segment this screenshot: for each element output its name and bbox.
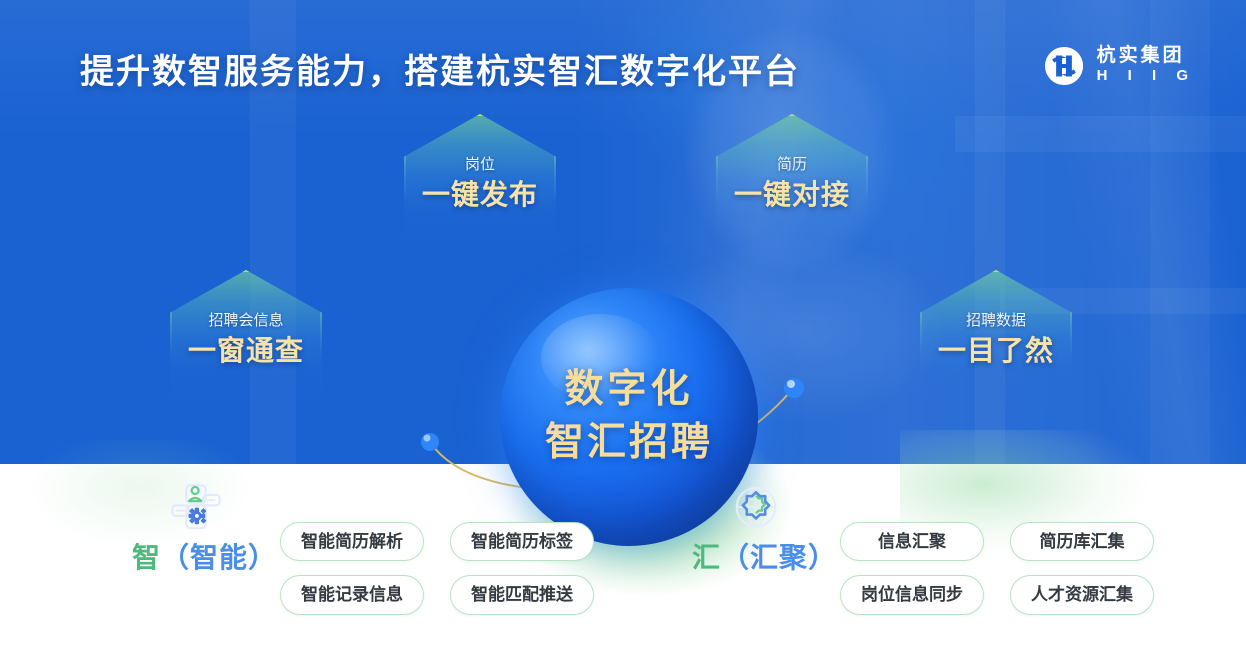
group-label-zhi: 智（智能） <box>132 536 277 576</box>
brand-name-cn: 杭实集团 <box>1097 46 1196 67</box>
group-label-rest: （智能） <box>161 542 277 573</box>
capability-pill[interactable]: 智能记录信息 <box>280 575 424 614</box>
sphere-line-2: 智汇招聘 <box>545 417 713 470</box>
feature-badge-job-publish[interactable]: 岗位 一键发布 <box>404 114 556 252</box>
group-label-rest: （汇聚） <box>721 542 837 573</box>
sphere-text: 数字化 智汇招聘 <box>500 288 758 546</box>
badge-text: 简历 一键对接 <box>734 155 850 211</box>
feature-badge-resume-connect[interactable]: 简历 一键对接 <box>716 114 868 252</box>
badge-text: 招聘数据 一目了然 <box>938 311 1054 367</box>
background-stripe <box>955 116 1246 152</box>
badge-title: 一窗通查 <box>188 335 304 367</box>
poster-canvas: 提升数智服务能力，搭建杭实智汇数字化平台 杭实集团 H I I G 岗位 一键发… <box>0 0 1246 668</box>
person-gear-icon <box>168 482 224 534</box>
capability-group-hui: 汇（汇聚） 信息汇聚 简历库汇集 岗位信息同步 人才资源汇集 <box>680 464 1200 668</box>
badge-text: 岗位 一键发布 <box>422 155 538 211</box>
badge-subtitle: 招聘会信息 <box>188 311 304 331</box>
badge-title: 一键发布 <box>422 179 538 211</box>
capability-pill[interactable]: 岗位信息同步 <box>840 575 984 614</box>
capability-pill[interactable]: 智能简历解析 <box>280 522 424 561</box>
sphere-line-1: 数字化 <box>564 364 693 417</box>
feature-badge-jobfair-info[interactable]: 招聘会信息 一窗通查 <box>170 270 322 408</box>
brand-logo-text: 杭实集团 H I I G <box>1097 46 1196 86</box>
brand-logo: 杭实集团 H I I G <box>1043 45 1196 87</box>
badge-text: 招聘会信息 一窗通查 <box>188 311 304 367</box>
pill-list-hui: 信息汇聚 简历库汇集 岗位信息同步 人才资源汇集 <box>840 522 1154 615</box>
group-label-accent: 汇 <box>692 542 721 573</box>
feature-badge-recruit-data[interactable]: 招聘数据 一目了然 <box>920 270 1072 408</box>
badge-title: 一目了然 <box>938 335 1054 367</box>
central-sphere: 数字化 智汇招聘 <box>500 288 758 546</box>
capability-pill[interactable]: 简历库汇集 <box>1010 522 1154 561</box>
page-title: 提升数智服务能力，搭建杭实智汇数字化平台 <box>80 44 800 93</box>
hiig-circle-h-logo-icon <box>1043 45 1085 87</box>
group-label-accent: 智 <box>132 542 161 573</box>
badge-title: 一键对接 <box>734 179 850 211</box>
capability-pill[interactable]: 信息汇聚 <box>840 522 984 561</box>
brand-name-en: H I I G <box>1097 67 1196 86</box>
badge-subtitle: 简历 <box>734 155 850 175</box>
badge-subtitle: 招聘数据 <box>938 311 1054 331</box>
capability-pill[interactable]: 智能匹配推送 <box>450 575 594 614</box>
badge-subtitle: 岗位 <box>422 155 538 175</box>
capability-pill[interactable]: 人才资源汇集 <box>1010 575 1154 614</box>
